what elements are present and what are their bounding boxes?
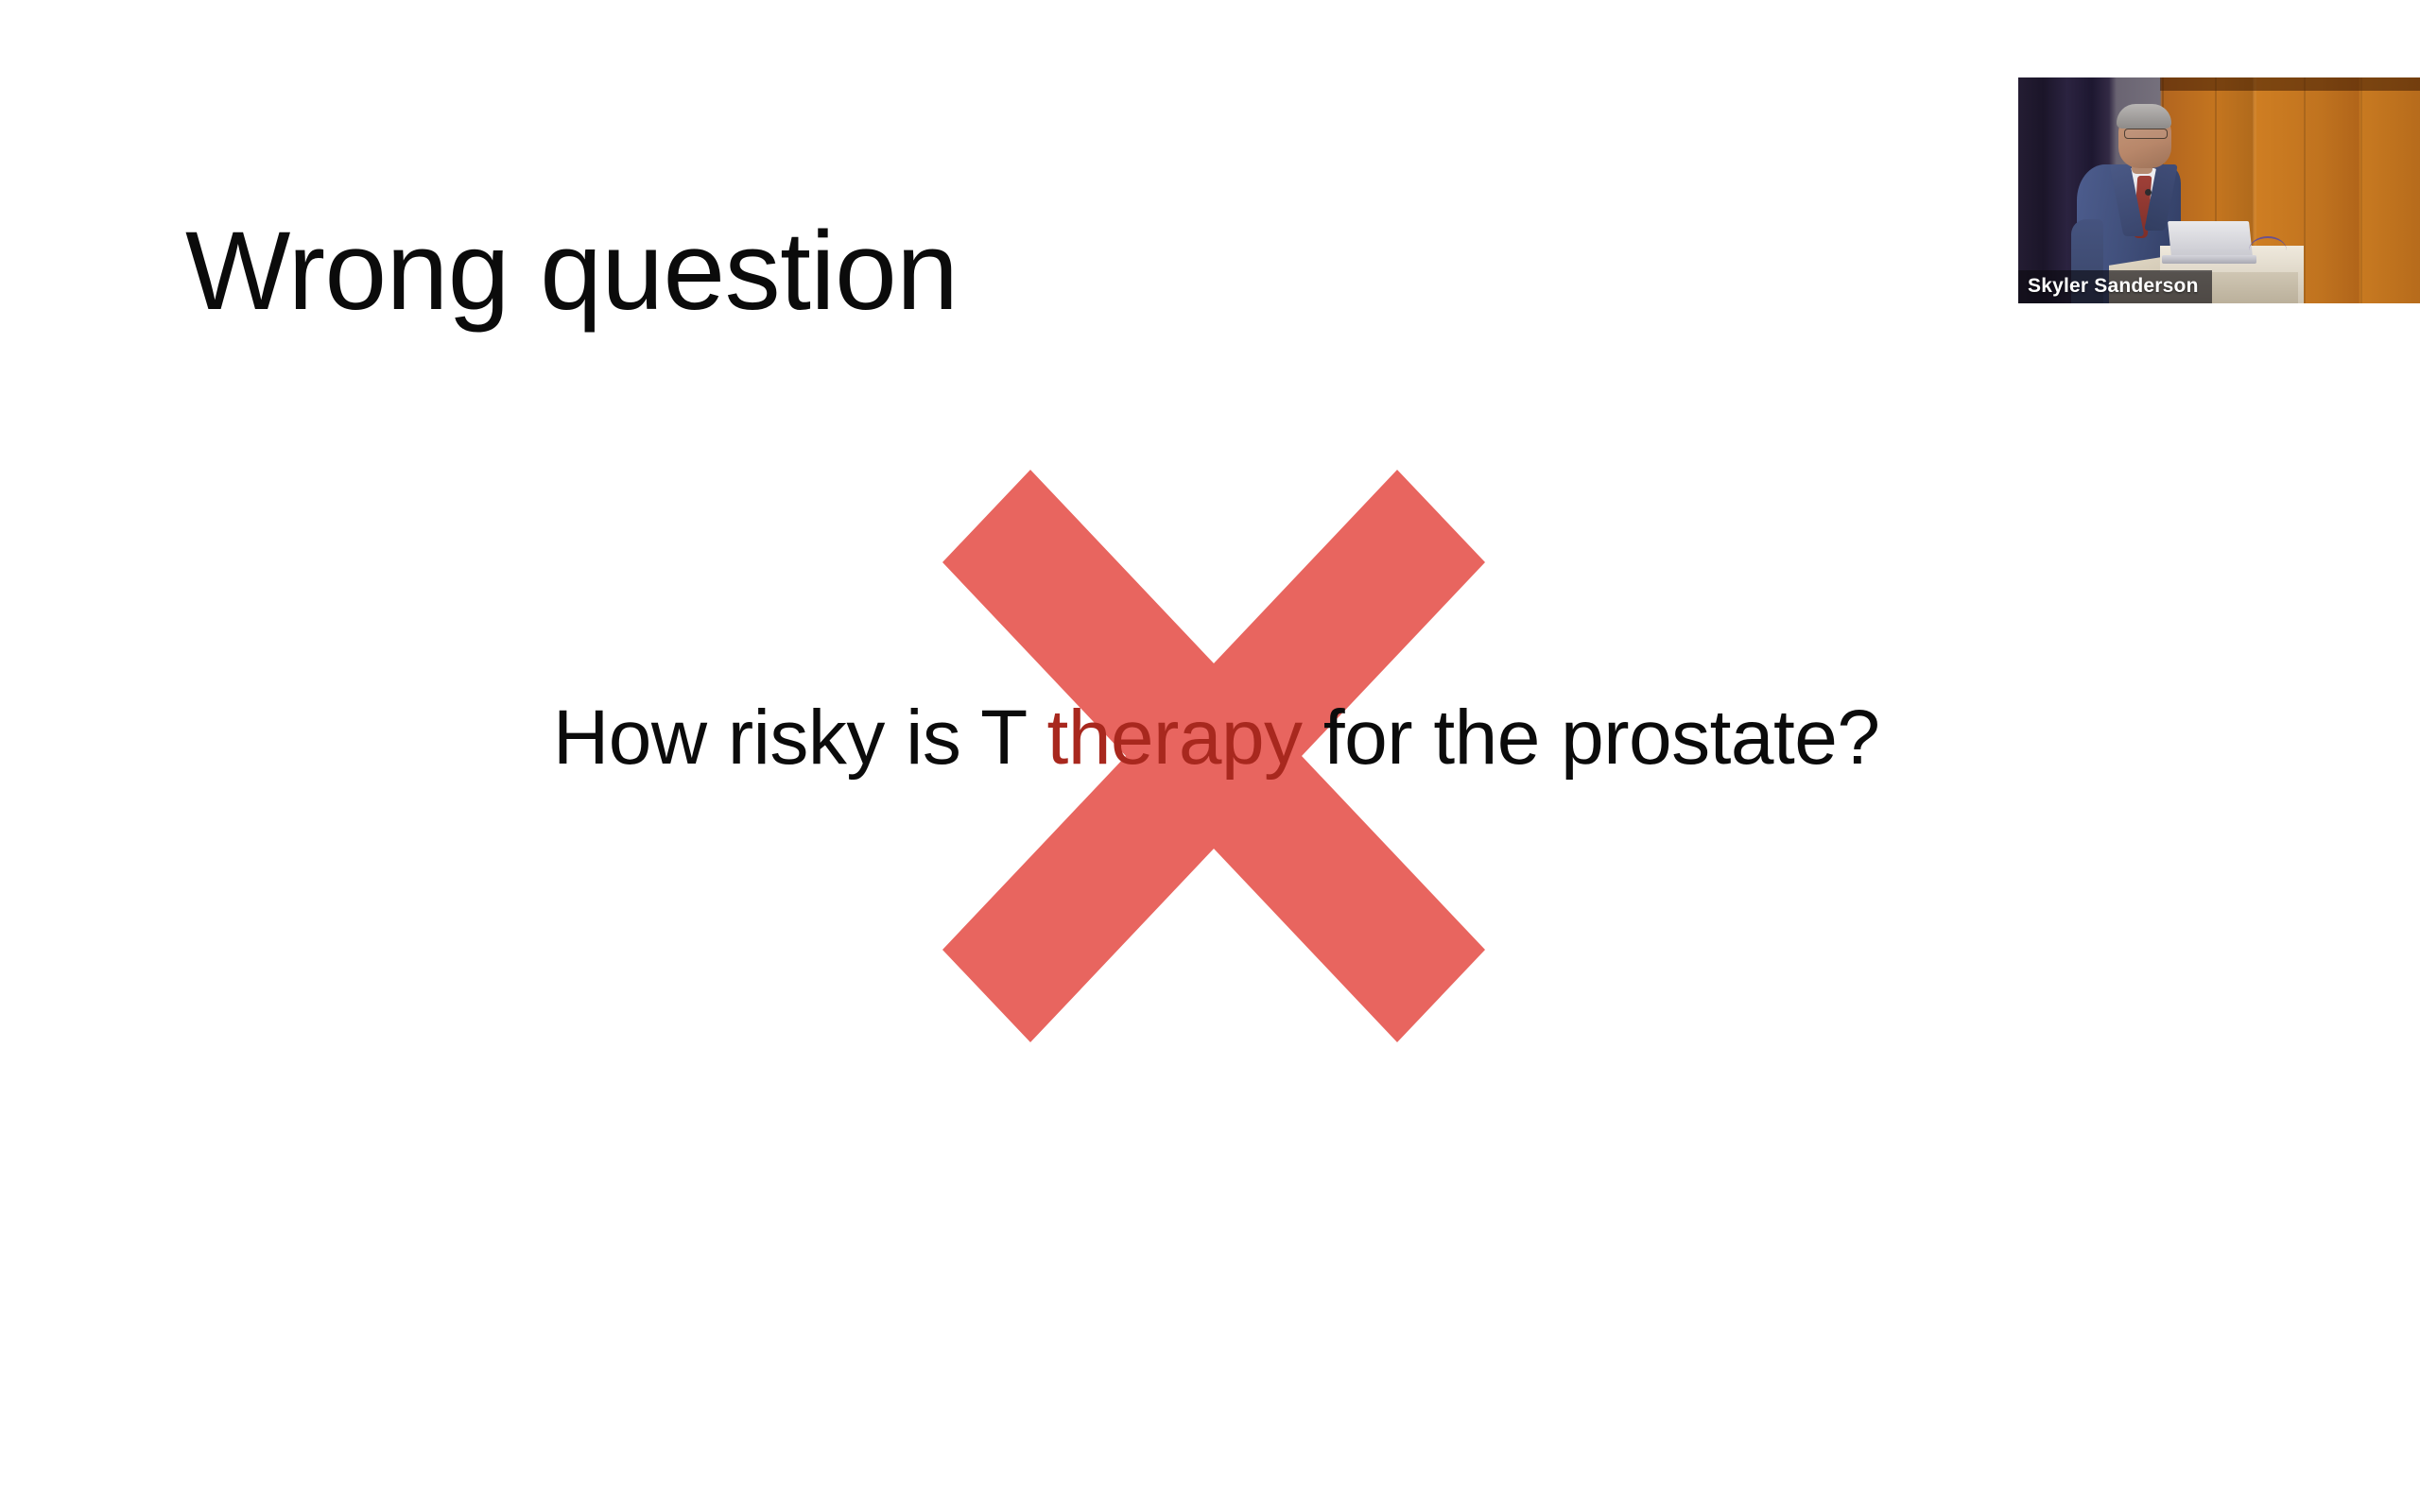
ceiling-trim (2160, 77, 2420, 91)
question-text: How risky is T therapy for the prostate? (553, 697, 1880, 779)
presentation-slide: Wrong question How risky is T therapy fo… (0, 0, 2420, 1512)
laptop-keyboard (2162, 255, 2256, 264)
speaker-name-label: Skyler Sanderson (2028, 275, 2199, 297)
slide-title: Wrong question (185, 215, 958, 327)
speaker-glasses (2124, 129, 2168, 139)
question-text-after: for the prostate? (1303, 695, 1880, 781)
question-text-before: How risky is T (553, 695, 1047, 781)
laptop-screen (2168, 221, 2253, 257)
speaker-name-badge: Skyler Sanderson (2018, 270, 2212, 303)
question-text-highlight: therapy (1047, 695, 1303, 781)
speaker-lapel-mic (2145, 189, 2152, 196)
speaker-hair (2117, 104, 2171, 129)
presenter-video-overlay[interactable]: Skyler Sanderson (2018, 77, 2420, 303)
